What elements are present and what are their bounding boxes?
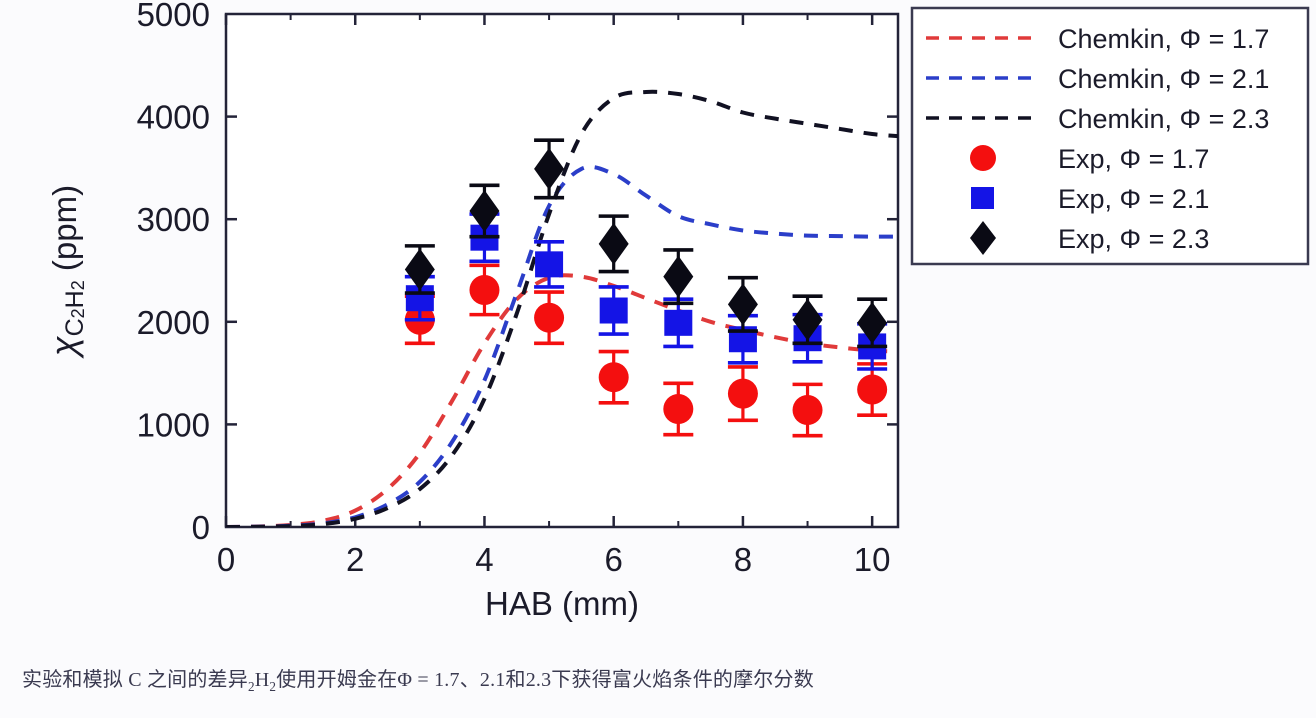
legend-label: Chemkin, Φ = 1.7	[1058, 24, 1269, 54]
data-point-square	[600, 298, 628, 324]
y-axis-title-text: χC2H2 (ppm)	[43, 185, 89, 359]
legend: Chemkin, Φ = 1.7Chemkin, Φ = 2.1Chemkin,…	[912, 8, 1308, 264]
y-tick-label: 3000	[137, 201, 210, 238]
y-tick-label: 5000	[137, 0, 210, 33]
y-tick-label: 2000	[137, 304, 210, 341]
x-axis-title: HAB (mm)	[485, 585, 639, 622]
legend-circle-swatch	[970, 145, 996, 171]
x-tick-label: 10	[854, 541, 891, 578]
x-tick-label: 0	[217, 541, 235, 578]
legend-square-swatch	[971, 187, 994, 209]
legend-label: Chemkin, Φ = 2.1	[1058, 64, 1269, 94]
y-axis-title: χC2H2 (ppm)	[43, 185, 89, 359]
y-tick-label: 0	[192, 509, 210, 546]
data-point-circle	[469, 275, 499, 305]
data-point-circle	[663, 394, 693, 424]
legend-label: Chemkin, Φ = 2.3	[1058, 104, 1269, 134]
data-point-circle	[599, 362, 629, 392]
legend-label: Exp, Φ = 2.1	[1058, 184, 1209, 214]
caption-text: 实验和模拟 C 之间的差异2H2使用开姆金在Φ = 1.7、2.1和2.3下获得…	[22, 663, 814, 695]
data-point-circle	[793, 395, 823, 425]
y-tick-label: 4000	[137, 99, 210, 136]
data-point-circle	[534, 303, 564, 333]
x-tick-label: 4	[475, 541, 493, 578]
data-point-square	[664, 310, 692, 336]
figure-caption: 实验和模拟 C 之间的差异2H2使用开姆金在Φ = 1.7、2.1和2.3下获得…	[0, 640, 1316, 718]
legend-label: Exp, Φ = 1.7	[1058, 144, 1209, 174]
data-point-circle	[857, 375, 887, 405]
chart-figure: 0246810010002000300040005000HAB (mm)χC2H…	[0, 0, 1316, 640]
acetylene-mole-fraction-chart: 0246810010002000300040005000HAB (mm)χC2H…	[0, 0, 1316, 640]
legend-label: Exp, Φ = 2.3	[1058, 224, 1209, 254]
x-tick-label: 2	[346, 541, 364, 578]
x-tick-label: 6	[605, 541, 623, 578]
data-point-circle	[728, 379, 758, 409]
data-point-square	[535, 251, 563, 277]
x-tick-label: 8	[734, 541, 752, 578]
y-tick-label: 1000	[137, 406, 210, 443]
